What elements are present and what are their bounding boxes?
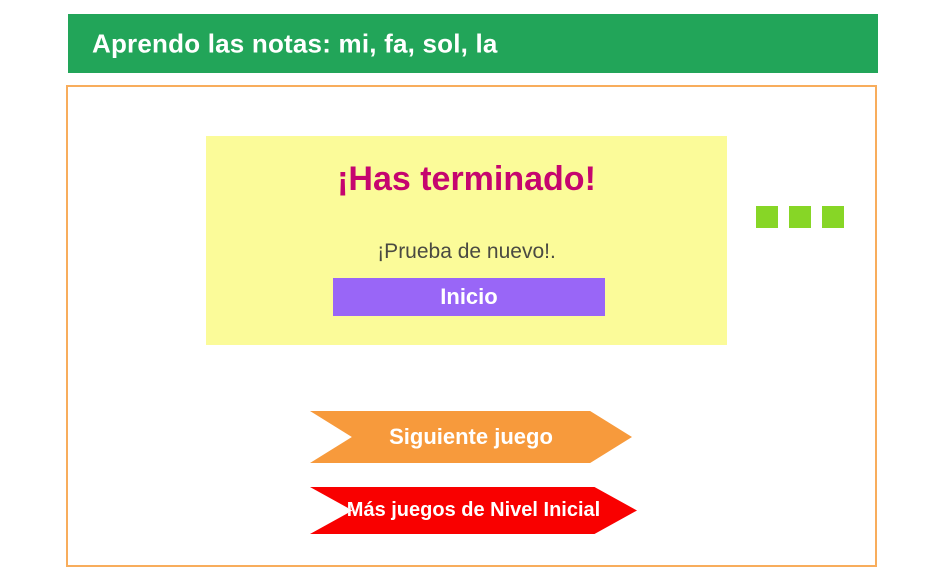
more-games-label: Más juegos de Nivel Inicial bbox=[347, 499, 600, 522]
next-game-button[interactable]: Siguiente juego bbox=[310, 411, 632, 463]
result-heading: ¡Has terminado! bbox=[206, 160, 727, 199]
next-game-label: Siguiente juego bbox=[389, 424, 553, 450]
result-panel: ¡Has terminado! ¡Prueba de nuevo!. Inici… bbox=[206, 136, 727, 345]
progress-square-2 bbox=[789, 206, 811, 228]
page-title: Aprendo las notas: mi, fa, sol, la bbox=[92, 28, 498, 59]
progress-indicator bbox=[756, 206, 844, 228]
progress-square-1 bbox=[756, 206, 778, 228]
more-games-button[interactable]: Más juegos de Nivel Inicial bbox=[310, 487, 637, 534]
start-button-label: Inicio bbox=[440, 284, 497, 310]
result-subtext: ¡Prueba de nuevo!. bbox=[206, 240, 727, 264]
progress-square-3 bbox=[822, 206, 844, 228]
start-button[interactable]: Inicio bbox=[333, 278, 605, 316]
header-banner: Aprendo las notas: mi, fa, sol, la bbox=[68, 14, 878, 73]
